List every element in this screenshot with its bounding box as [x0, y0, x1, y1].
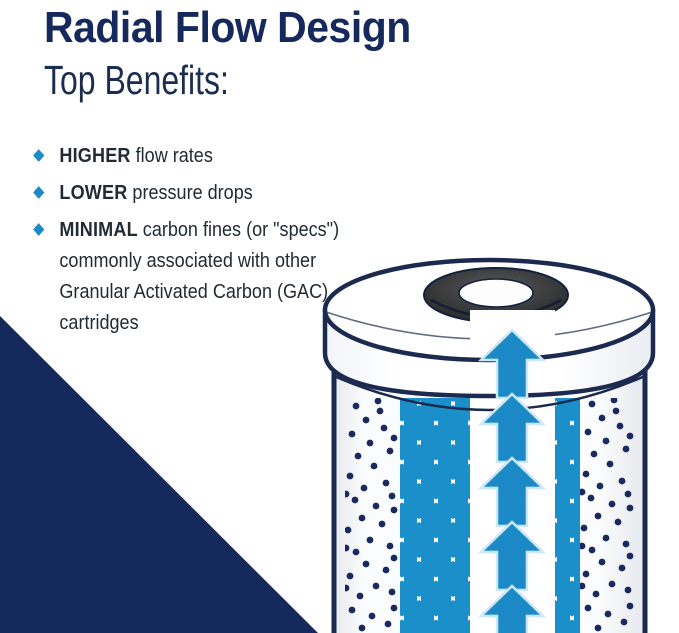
page-title: Radial Flow Design [44, 6, 411, 51]
list-item: LOWER pressure drops [33, 177, 359, 208]
benefit-keyword: MINIMAL [59, 218, 137, 241]
infographic-canvas: Radial Flow Design Top Benefits: HIGHER … [0, 0, 679, 633]
list-item: HIGHER flow rates [33, 140, 359, 171]
benefit-text: flow rates [131, 144, 213, 167]
diamond-bullet-icon [33, 186, 44, 199]
page-subtitle: Top Benefits: [44, 60, 229, 102]
benefit-keyword: LOWER [59, 181, 127, 204]
diamond-bullet-icon [33, 149, 44, 162]
benefit-keyword: HIGHER [59, 144, 130, 167]
filter-cartridge-illustration [300, 248, 679, 633]
navy-corner-wedge [0, 316, 318, 633]
benefit-text: pressure drops [127, 181, 252, 204]
diamond-bullet-icon [33, 223, 44, 236]
